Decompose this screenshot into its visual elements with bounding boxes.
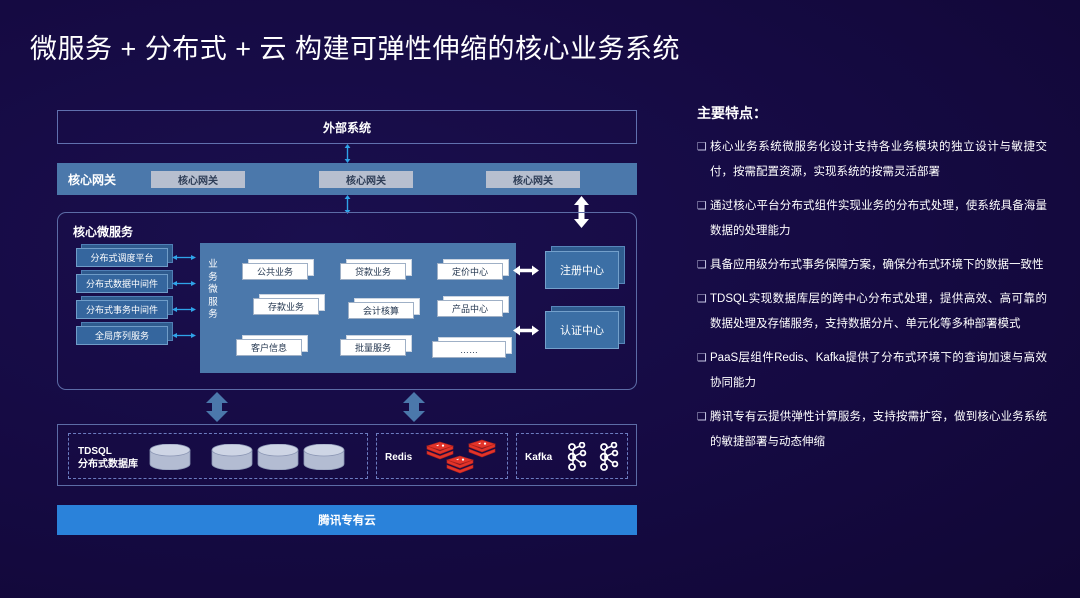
architecture-diagram: 外部系统 核心网关 核心网关 核心网关 核心网关 核心微服务 [57,110,637,540]
redis-icon [445,454,475,476]
slide-root: 微服务 + 分布式 + 云 构建可弹性伸缩的核心业务系统 外部系统 核心网关 核… [0,0,1080,598]
service-card: …… [432,341,506,358]
feature-text: PaaS层组件Redis、Kafka提供了分布式环境下的查询加速与高效协同能力 [710,346,1047,396]
gateway-chip: 核心网关 [319,171,413,188]
feature-text: 核心业务系统微服务化设计支持各业务模块的独立设计与敏捷交付，按需配置资源，实现系… [710,135,1047,185]
service-card-label: 客户信息 [236,339,302,356]
bullet-square-icon: ❑ [697,135,710,185]
gateway-chip: 核心网关 [486,171,580,188]
gateway-chip: 核心网关 [151,171,245,188]
external-system-label: 外部系统 [323,119,371,136]
database-cylinder-icon [211,444,253,470]
service-card: 公共业务 [242,263,308,280]
feature-item: ❑ 通过核心平台分布式组件实现业务的分布式处理，使系统具备海量数据的处理能力 [697,194,1047,244]
connector-core-data-right-icon [402,392,426,422]
service-card: 贷款业务 [340,263,406,280]
features-panel: 主要特点： ❑ 核心业务系统微服务化设计支持各业务模块的独立设计与敏捷交付，按需… [697,103,1047,464]
service-card: 会计核算 [348,302,414,319]
bullet-square-icon: ❑ [697,287,710,337]
bullet-square-icon: ❑ [697,346,710,396]
database-cylinder-icon [257,444,299,470]
auth-center-label: 认证中心 [545,311,619,349]
service-card-label: 公共业务 [242,263,308,280]
service-card-label: 存款业务 [253,298,319,315]
middleware-label: 分布式事务中间件 [76,300,168,319]
feature-text: 通过核心平台分布式组件实现业务的分布式处理，使系统具备海量数据的处理能力 [710,194,1047,244]
core-microservice-panel: 核心微服务 分布式调度平台 分布式数据中间件 分布式事务中间件 全局序列服务 [57,212,637,390]
feature-item: ❑ TDSQL实现数据库层的跨中心分布式处理，提供高效、高可靠的数据处理及存储服… [697,287,1047,337]
middleware-label: 分布式数据中间件 [76,274,168,293]
connector-middleware-arrow-icon [172,280,196,287]
data-layer-panel: TDSQL 分布式数据库 [57,424,637,486]
business-microservice-panel: 业务微服务 公共业务 贷款业务 定价中心 存款业务 [200,243,516,373]
redis-label: Redis [385,451,412,464]
core-gateway-title: 核心网关 [68,171,144,188]
middleware-box: 分布式调度平台 [76,248,168,267]
feature-item: ❑ 具备应用级分布式事务保障方案，确保分布式环境下的数据一致性 [697,253,1047,278]
service-card: 客户信息 [236,339,302,356]
kafka-group: Kafka [516,433,628,479]
service-card-label: 定价中心 [437,263,503,280]
database-cylinder-icon [303,444,345,470]
feature-text: 具备应用级分布式事务保障方案，确保分布式环境下的数据一致性 [710,253,1047,278]
service-card-label: 贷款业务 [340,263,406,280]
tencent-cloud-label: 腾讯专有云 [318,512,376,528]
middleware-box: 分布式事务中间件 [76,300,168,319]
database-cylinder-icon [149,444,191,470]
business-microservice-vertical-label: 业务微服务 [206,259,220,322]
service-card-label: …… [432,341,506,358]
feature-item: ❑ 腾讯专有云提供弹性计算服务，支持按需扩容，做到核心业务系统的敏捷部署与动态伸… [697,405,1047,455]
middleware-label: 全局序列服务 [76,326,168,345]
service-card-label: 会计核算 [348,302,414,319]
feature-item: ❑ 核心业务系统微服务化设计支持各业务模块的独立设计与敏捷交付，按需配置资源，实… [697,135,1047,185]
core-gateway-bar: 核心网关 核心网关 核心网关 核心网关 [57,163,637,195]
feature-text: 腾讯专有云提供弹性计算服务，支持按需扩容，做到核心业务系统的敏捷部署与动态伸缩 [710,405,1047,455]
service-card: 产品中心 [437,300,503,317]
bullet-square-icon: ❑ [697,194,710,244]
registry-center-label: 注册中心 [545,251,619,289]
middleware-label: 分布式调度平台 [76,248,168,267]
core-microservice-title: 核心微服务 [73,223,133,240]
feature-text: TDSQL实现数据库层的跨中心分布式处理，提供高效、高可靠的数据处理及存储服务，… [710,287,1047,337]
service-card-label: 产品中心 [437,300,503,317]
connector-middleware-arrow-icon [172,332,196,339]
connector-core-data-left-icon [205,392,229,422]
redis-group: Redis [376,433,508,479]
feature-item: ❑ PaaS层组件Redis、Kafka提供了分布式环境下的查询加速与高效协同能… [697,346,1047,396]
auth-center-box: 认证中心 [545,311,619,349]
kafka-label: Kafka [525,451,552,464]
tdsql-group: TDSQL 分布式数据库 [68,433,368,479]
middleware-box: 全局序列服务 [76,326,168,345]
connector-middleware-arrow-icon [172,306,196,313]
service-card: 存款业务 [253,298,319,315]
middleware-box: 分布式数据中间件 [76,274,168,293]
page-title: 微服务 + 分布式 + 云 构建可弹性伸缩的核心业务系统 [30,27,680,66]
connector-auth-arrow-icon [513,325,539,336]
service-card: 批量服务 [340,339,406,356]
service-card: 定价中心 [437,263,503,280]
connector-registry-arrow-icon [513,265,539,276]
bullet-square-icon: ❑ [697,253,710,278]
service-card-label: 批量服务 [340,339,406,356]
tencent-cloud-bar: 腾讯专有云 [57,505,637,535]
features-heading: 主要特点： [697,103,1047,123]
connector-external-gateway-icon [343,144,352,163]
connector-middleware-arrow-icon [172,254,196,261]
bullet-square-icon: ❑ [697,405,710,455]
registry-center-box: 注册中心 [545,251,619,289]
kafka-icon [565,442,589,472]
tdsql-label: TDSQL 分布式数据库 [78,445,138,471]
external-system-box: 外部系统 [57,110,637,144]
kafka-icon [597,442,621,472]
